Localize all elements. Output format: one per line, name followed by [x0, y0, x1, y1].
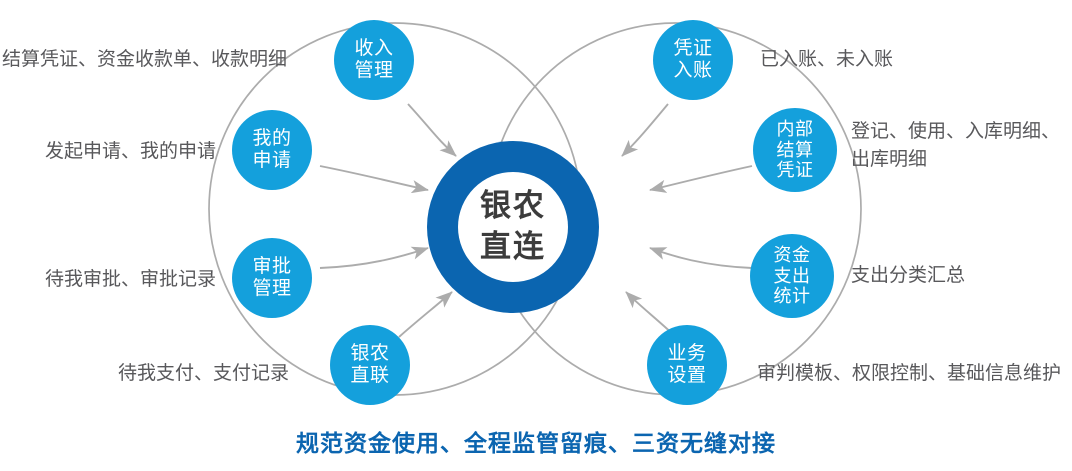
- bottom-caption: 规范资金使用、全程监管留痕、三资无缝对接: [0, 424, 1072, 458]
- node-internal-settlement-voucher[interactable]: 内部 结算 凭证: [753, 108, 837, 192]
- node-approval-management-line2: 管理: [252, 278, 291, 300]
- node-voucher-entry[interactable]: 凭证 入账: [653, 20, 733, 100]
- label-approval-management: 待我审批、审批记录: [45, 266, 216, 294]
- center-ring: 银农 直连: [427, 141, 599, 313]
- node-approval-management[interactable]: 审批 管理: [232, 238, 312, 318]
- node-voucher-entry-line2: 入账: [673, 60, 712, 82]
- label-approval-management-line1: 待我审批、审批记录: [45, 266, 216, 294]
- label-fund-expenditure-statistics: 支出分类汇总: [851, 262, 965, 290]
- label-income-management-line1: 结算凭证、资金收款单、收款明细: [2, 46, 287, 74]
- node-fund-expenditure-statistics-line3: 统计: [774, 286, 811, 307]
- node-income-management-line1: 收入: [354, 38, 393, 60]
- node-income-management-line2: 管理: [354, 60, 393, 82]
- node-fund-expenditure-statistics-line2: 支出: [774, 266, 811, 287]
- node-internal-settlement-voucher-line1: 内部: [777, 119, 814, 140]
- arrow-bank-direct-link: [399, 292, 452, 337]
- label-voucher-entry: 已入账、未入账: [760, 46, 893, 74]
- label-bank-direct-link: 待我支付、支付记录: [118, 360, 289, 388]
- label-business-settings: 审判模板、权限控制、基础信息维护: [757, 360, 1061, 388]
- node-bank-direct-link-line1: 银农: [350, 343, 389, 365]
- arrow-fund-expenditure-statistics: [650, 248, 752, 268]
- center-label: 银农 直连: [458, 172, 568, 282]
- diagram-canvas: 银农 直连 收入 管理 我的 申请 审批 管理 银农 直联 凭证 入账 内部 结…: [0, 0, 1072, 471]
- node-my-application-line2: 申请: [252, 150, 291, 172]
- arrow-my-application: [320, 166, 428, 190]
- label-bank-direct-link-line1: 待我支付、支付记录: [118, 360, 289, 388]
- label-my-application: 发起申请、我的申请: [45, 138, 216, 166]
- label-income-management: 结算凭证、资金收款单、收款明细: [2, 46, 287, 74]
- label-voucher-entry-line1: 已入账、未入账: [760, 46, 893, 74]
- node-internal-settlement-voucher-line2: 结算: [777, 140, 814, 161]
- label-internal-settlement-voucher-line2: 出库明细: [851, 146, 1066, 174]
- arrow-income-management: [408, 104, 456, 156]
- center-label-line1: 银农: [480, 186, 546, 227]
- center-label-line2: 直连: [480, 227, 546, 268]
- node-internal-settlement-voucher-line3: 凭证: [777, 160, 814, 181]
- arrow-voucher-entry: [622, 104, 668, 156]
- node-voucher-entry-line1: 凭证: [673, 38, 712, 60]
- node-business-settings-line2: 设置: [667, 365, 706, 387]
- node-business-settings-line1: 业务: [667, 343, 706, 365]
- node-my-application-line1: 我的: [252, 128, 291, 150]
- arrow-internal-settlement-voucher: [650, 166, 752, 190]
- arrow-approval-management: [320, 248, 428, 268]
- node-business-settings[interactable]: 业务 设置: [647, 325, 727, 405]
- label-fund-expenditure-statistics-line1: 支出分类汇总: [851, 262, 965, 290]
- node-my-application[interactable]: 我的 申请: [232, 110, 312, 190]
- node-approval-management-line1: 审批: [252, 256, 291, 278]
- label-internal-settlement-voucher: 登记、使用、入库明细、 出库明细: [851, 118, 1066, 173]
- node-bank-direct-link-line2: 直联: [350, 365, 389, 387]
- node-fund-expenditure-statistics[interactable]: 资金 支出 统计: [750, 234, 834, 318]
- label-my-application-line1: 发起申请、我的申请: [45, 138, 216, 166]
- label-business-settings-line1: 审判模板、权限控制、基础信息维护: [757, 360, 1061, 388]
- node-bank-direct-link[interactable]: 银农 直联: [330, 325, 410, 405]
- node-fund-expenditure-statistics-line1: 资金: [774, 245, 811, 266]
- label-internal-settlement-voucher-line1: 登记、使用、入库明细、: [851, 118, 1066, 146]
- node-income-management[interactable]: 收入 管理: [334, 20, 414, 100]
